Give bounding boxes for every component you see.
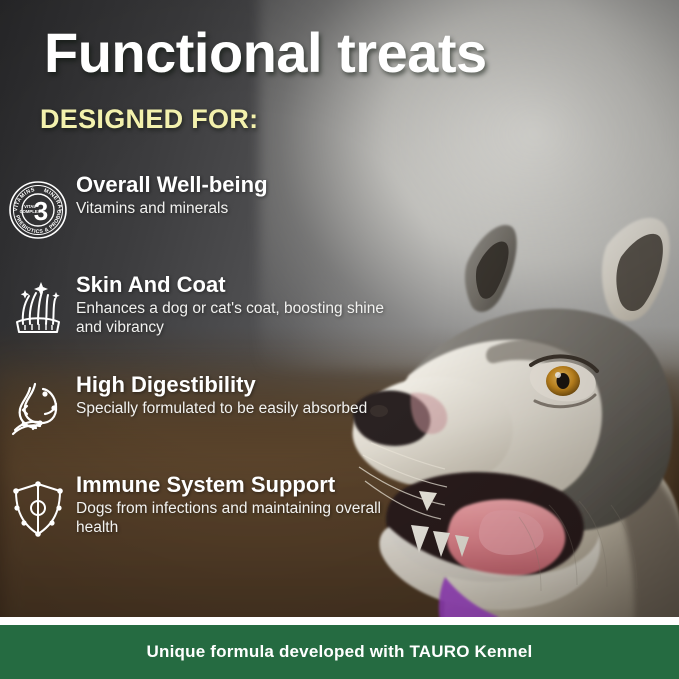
feature-description: Specially formulated to be easily absorb… xyxy=(76,400,367,419)
product-feature-poster: Functional treats DESIGNED FOR: xyxy=(0,0,679,679)
footer-text: Unique formula developed with TAURO Kenn… xyxy=(147,642,533,662)
feature-text-block: Immune System Support Dogs from infectio… xyxy=(76,472,396,538)
skin-and-coat-icon xyxy=(0,272,76,334)
footer-banner: Unique formula developed with TAURO Kenn… xyxy=(0,625,679,679)
poster-content: Functional treats DESIGNED FOR: xyxy=(0,0,679,679)
vital-complex-badge-icon: VITAMINS MINERALS PREBIOTICS & PROBIOTIC… xyxy=(0,172,76,240)
feature-text-block: High Digestibility Specially formulated … xyxy=(76,372,367,419)
feature-list: VITAMINS MINERALS PREBIOTICS & PROBIOTIC… xyxy=(0,172,430,572)
feature-text-block: Overall Well-being Vitamins and minerals xyxy=(76,172,268,219)
feature-title: Immune System Support xyxy=(76,472,396,498)
feature-description: Enhances a dog or cat's coat, boosting s… xyxy=(76,300,396,338)
stomach-digestion-icon xyxy=(0,372,76,436)
list-item: Skin And Coat Enhances a dog or cat's co… xyxy=(0,272,430,350)
shield-immune-icon xyxy=(0,472,76,538)
feature-title: Skin And Coat xyxy=(76,272,396,298)
list-item: Immune System Support Dogs from infectio… xyxy=(0,472,430,550)
svg-text:COMPLEX: COMPLEX xyxy=(20,209,41,214)
feature-title: High Digestibility xyxy=(76,372,367,398)
page-title: Functional treats xyxy=(44,24,487,83)
list-item: VITAMINS MINERALS PREBIOTICS & PROBIOTIC… xyxy=(0,172,430,250)
feature-text-block: Skin And Coat Enhances a dog or cat's co… xyxy=(76,272,396,338)
list-item: High Digestibility Specially formulated … xyxy=(0,372,430,450)
feature-description: Dogs from infections and maintaining ove… xyxy=(76,500,396,538)
footer-divider xyxy=(0,617,679,625)
feature-title: Overall Well-being xyxy=(76,172,268,198)
designed-for-label: DESIGNED FOR: xyxy=(40,104,258,135)
feature-description: Vitamins and minerals xyxy=(76,200,268,219)
